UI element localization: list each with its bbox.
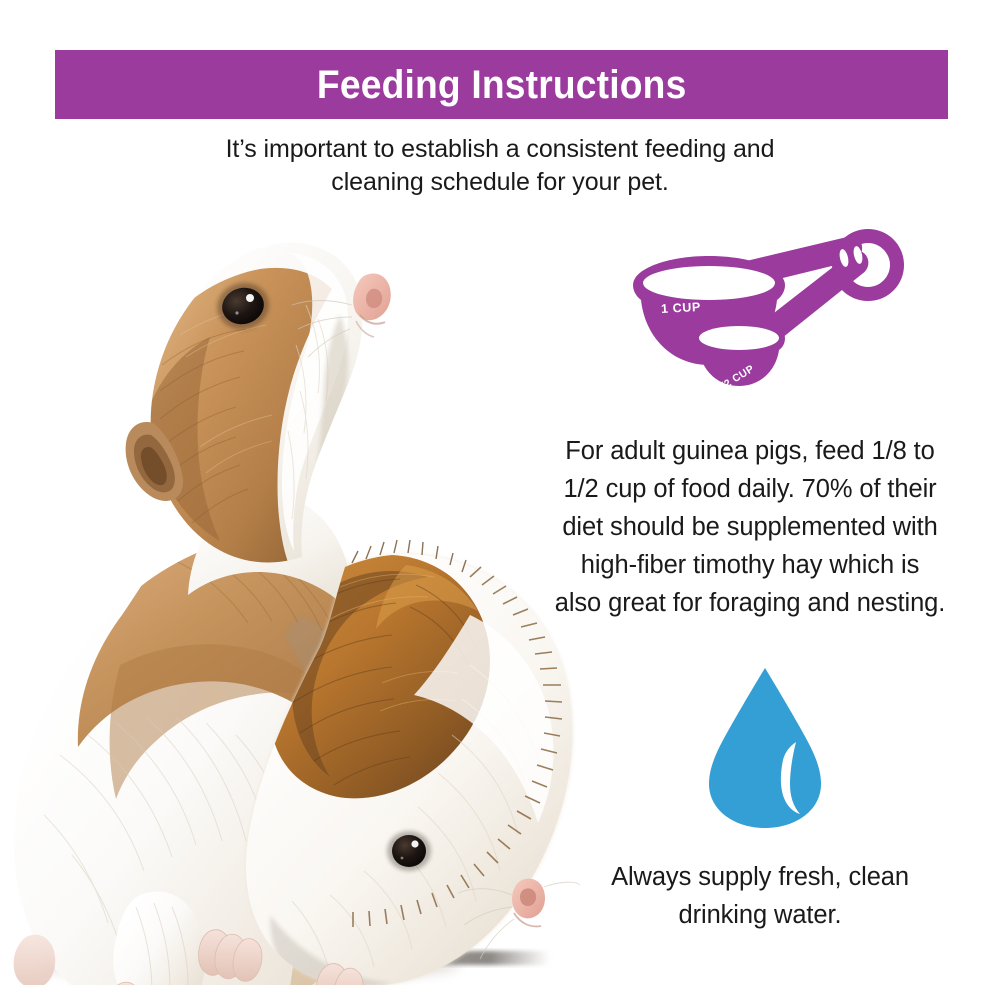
water-text-line-2: drinking water. (560, 896, 960, 934)
feeding-text-line-5: also great for foraging and nesting. (525, 584, 975, 622)
measuring-cups-icon (615, 225, 905, 405)
right-content-column: 1 CUP 1/2 CUP (520, 215, 980, 415)
feeding-text-line-3: diet should be supplemented with (525, 508, 975, 546)
measuring-cups-illustration: 1 CUP 1/2 CUP (520, 215, 980, 415)
page-title: Feeding Instructions (317, 65, 687, 105)
header-banner: Feeding Instructions (55, 50, 948, 119)
water-instructions-text: Always supply fresh, clean drinking wate… (560, 858, 960, 934)
two-guinea-pigs-photo (0, 195, 580, 985)
feeding-text-line-2: 1/2 cup of food daily. 70% of their (525, 470, 975, 508)
water-drop-illustration (690, 662, 840, 832)
water-text-line-1: Always supply fresh, clean (560, 858, 960, 896)
subtitle-line-1: It’s important to establish a consistent… (180, 133, 820, 166)
feeding-instructions-text: For adult guinea pigs, feed 1/8 to 1/2 c… (525, 432, 975, 622)
baby-guinea-pig-eye (387, 831, 431, 871)
feeding-instructions-infographic: Feeding Instructions It’s important to e… (0, 0, 1000, 1000)
subtitle-text: It’s important to establish a consistent… (180, 133, 820, 199)
feeding-text-line-4: high-fiber timothy hay which is (525, 546, 975, 584)
water-drop-icon (690, 662, 840, 832)
feeding-text-line-1: For adult guinea pigs, feed 1/8 to (525, 432, 975, 470)
